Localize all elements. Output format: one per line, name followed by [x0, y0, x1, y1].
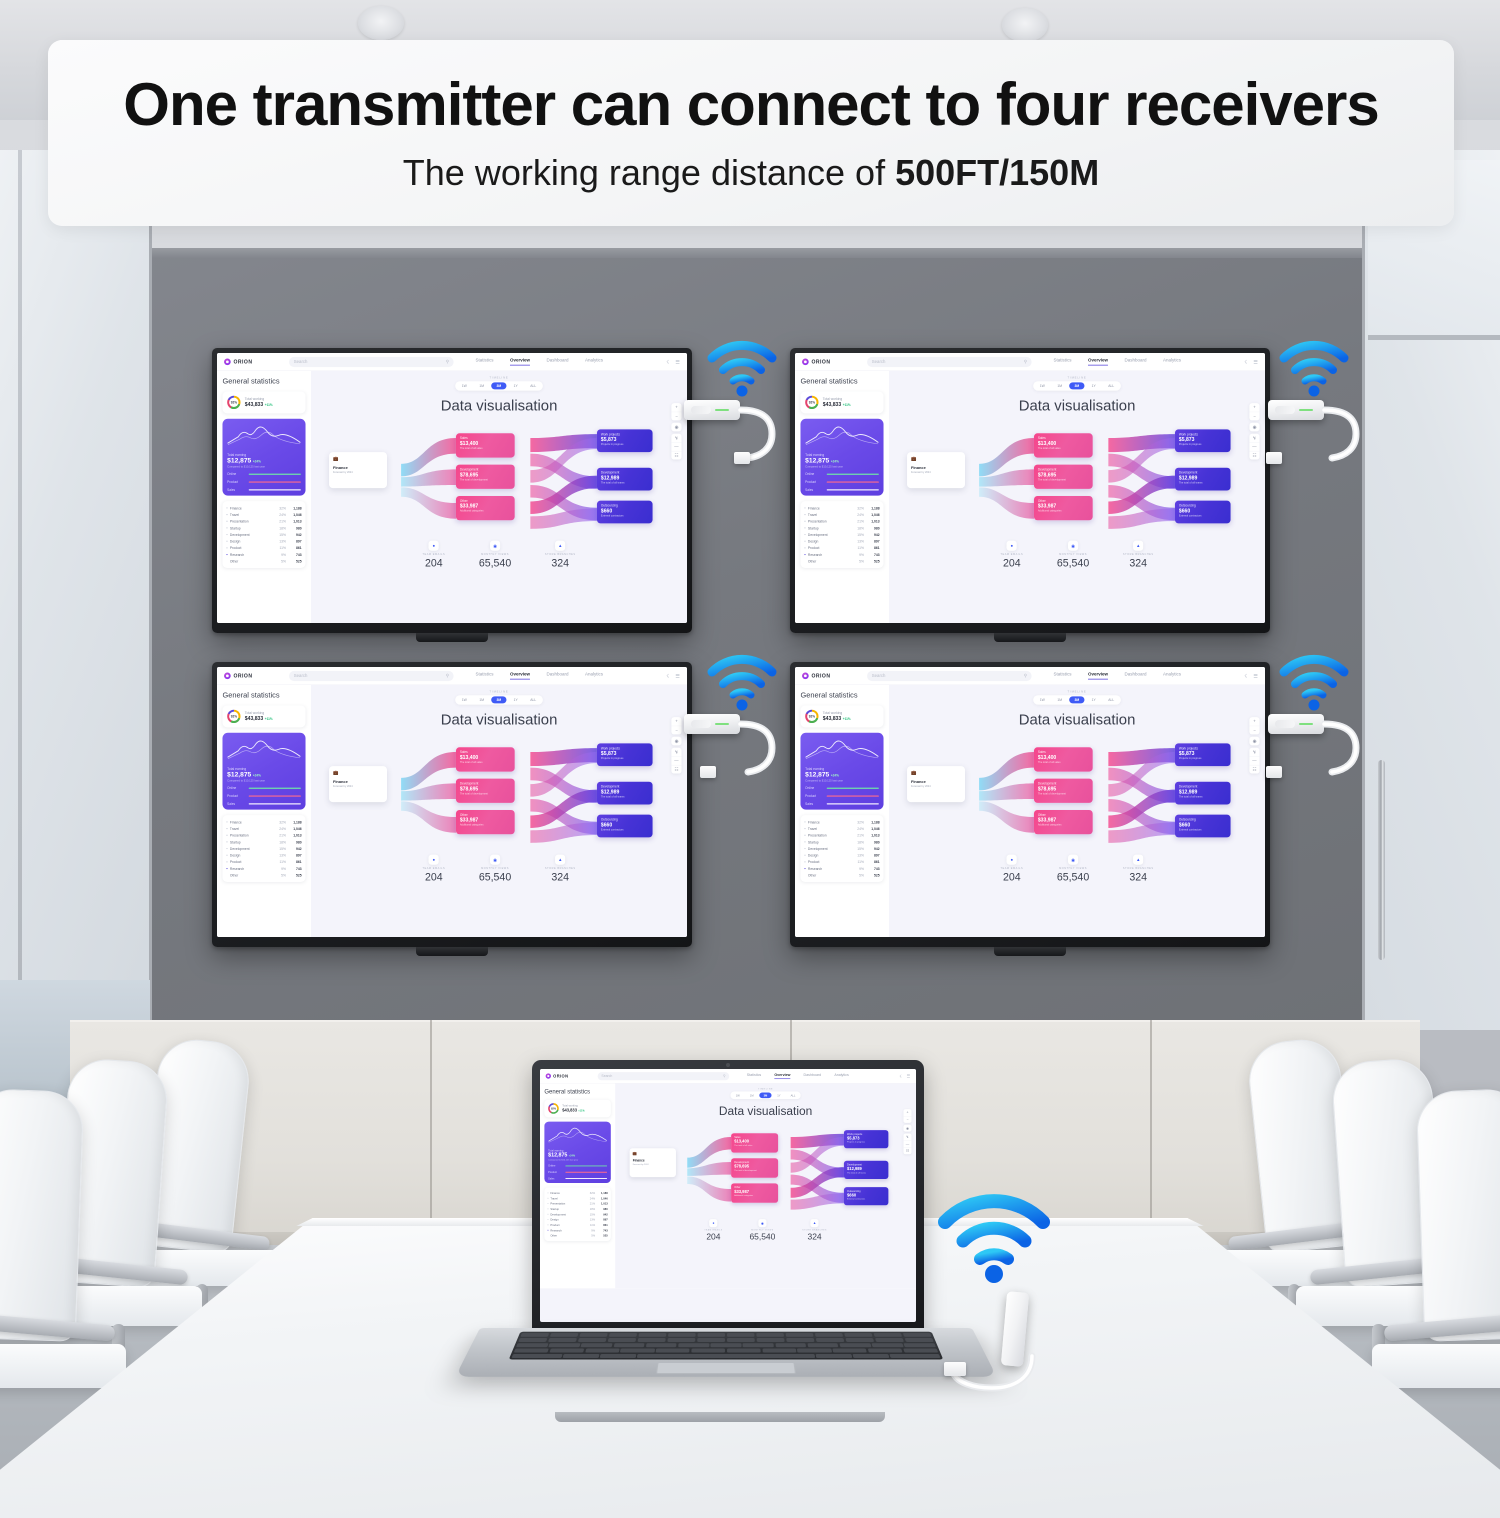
list-item-name: Product	[550, 1223, 584, 1226]
list-item-name: Research	[230, 553, 272, 557]
list-item-value: 942	[597, 1213, 608, 1216]
sankey-diagram: 💼 Finance Forecast by 2024 Sales $13,400…	[905, 418, 1250, 536]
nav-item-analytics[interactable]: Analytics	[1163, 358, 1181, 365]
plus-icon[interactable]: +	[1249, 717, 1259, 726]
topbar-icons: ☇ ☰	[899, 1074, 910, 1079]
timeline-option-3m[interactable]: 3M	[1069, 696, 1085, 703]
list-item-name: Other	[808, 873, 850, 877]
nav-item-statistics[interactable]: Statistics	[1054, 358, 1072, 365]
sankey-node-outsourcing[interactable]: Outsourcing $660 External contractors	[1175, 815, 1231, 838]
total-earning-value: $12,875	[805, 457, 829, 464]
tv-screen: ORION Search ⚲ Statistics Overview Dashb…	[795, 353, 1265, 623]
key-row	[511, 1354, 940, 1358]
total-earning-value: $12,875	[227, 457, 251, 464]
list-item-name: Other	[808, 559, 850, 563]
display-screen-2[interactable]: ORION Search ⚲ Statistics Overview Dashb…	[790, 348, 1270, 633]
nav-item-statistics[interactable]: Statistics	[476, 358, 494, 365]
list-item[interactable]: Product 11% 861	[226, 545, 301, 552]
list-item-name: Travel	[550, 1197, 584, 1200]
sankey-node-development[interactable]: Development $78,695 The total of develop…	[1034, 465, 1093, 489]
dashboard-body: General statistics 92% Total working $43…	[217, 685, 687, 937]
search-input[interactable]: Search ⚲	[289, 671, 454, 681]
progress-ring-icon: 92%	[227, 710, 240, 723]
sankey-node-work-projects[interactable]: Work projects $5,873 Projects in progres…	[597, 743, 653, 766]
node-sub: External contractors	[847, 1198, 885, 1200]
orion-logo-icon	[802, 358, 809, 365]
sankey-node-other[interactable]: Other $33,987 Additional categories	[731, 1183, 778, 1202]
topbar-icons: ☇ ☰	[666, 673, 680, 679]
sankey-node-work-projects[interactable]: Work projects $5,873 Projects in progres…	[1175, 743, 1231, 766]
target-icon[interactable]: ◉	[1249, 737, 1259, 746]
timeline-option-1m[interactable]: 1M	[745, 1092, 757, 1098]
list-item[interactable]: Other 5% 525	[804, 872, 879, 879]
list-item[interactable]: Finance 32% 1,188	[804, 819, 879, 826]
timeline-caption: TIMELINE	[889, 377, 1265, 380]
list-item[interactable]: Presentation 21% 1,013	[804, 832, 879, 839]
timeline-option-1y[interactable]: 1Y	[1086, 382, 1101, 389]
list-item[interactable]: Design 13% 897	[226, 538, 301, 545]
list-item-name: Finance	[550, 1191, 584, 1194]
node-sub: Projects in progress	[1179, 757, 1227, 760]
sankey-node-target-development[interactable]: Development $12,989 The total of all tea…	[1175, 468, 1231, 491]
tv-screen: ORION Search ⚲ Statistics Overview Dashb…	[217, 667, 687, 937]
nav-item-statistics[interactable]: Statistics	[747, 1073, 761, 1079]
globe-icon: ◉	[1068, 855, 1078, 865]
list-item[interactable]: Startup 18% 980	[804, 525, 879, 532]
list-item[interactable]: Presentation 21% 1,013	[226, 832, 301, 839]
plus-icon[interactable]: +	[903, 1109, 911, 1116]
nav-item-analytics[interactable]: Analytics	[834, 1073, 848, 1079]
total-earning-delta: +24%	[253, 460, 261, 464]
list-item-name: Startup	[230, 840, 272, 844]
search-input[interactable]: Search ⚲	[289, 357, 454, 367]
list-item-pct: 24%	[852, 827, 864, 831]
nav-item-analytics[interactable]: Analytics	[1163, 672, 1181, 679]
list-item[interactable]: Development 15% 942	[226, 845, 301, 852]
bullet-icon	[226, 527, 227, 528]
sankey-node-target-development[interactable]: Development $12,989 The total of all tea…	[597, 468, 653, 491]
bullet-icon	[226, 547, 227, 548]
bookmark-icon[interactable]: ☇	[899, 1074, 901, 1079]
brand-logo[interactable]: ORION	[224, 672, 283, 679]
nav-item-dashboard[interactable]: Dashboard	[546, 672, 568, 679]
display-screen-3[interactable]: ORION Search ⚲ Statistics Overview Dashb…	[212, 662, 692, 947]
node-sub: External contractors	[1179, 828, 1227, 831]
branch-icon[interactable]: ↯	[671, 748, 681, 757]
source-node-name: Finance	[633, 1159, 673, 1162]
layers-icon[interactable]: ☷	[903, 1147, 911, 1154]
node-value: $33,987	[1038, 817, 1089, 823]
brand-logo[interactable]: ORION	[802, 358, 861, 365]
bullet-icon	[804, 507, 805, 508]
total-working-text: Total working $43,833+11%	[823, 397, 851, 408]
sankey-node-outsourcing[interactable]: Outsourcing $660 External contractors	[1175, 501, 1231, 524]
timeline-option-1w[interactable]: 1W	[1034, 382, 1050, 389]
bookmark-icon[interactable]: ☇	[666, 673, 669, 679]
search-input[interactable]: Search ⚲	[867, 357, 1032, 367]
list-item[interactable]: Development 15% 942	[804, 845, 879, 852]
sankey-node-target-development[interactable]: Development $12,989 The total of all tea…	[597, 782, 653, 805]
total-earning-sub: Compared to $10,125 last year	[805, 779, 879, 782]
nav-item-dashboard[interactable]: Dashboard	[1124, 358, 1146, 365]
sankey-node-target-development[interactable]: Development $12,989 The total of all tea…	[1175, 782, 1231, 805]
total-earning-sub: Compared to $10,125 last year	[548, 1159, 607, 1161]
sankey-node-work-projects[interactable]: Work projects $5,873 Projects in progres…	[597, 429, 653, 452]
target-icon[interactable]: ◉	[903, 1125, 911, 1132]
list-item[interactable]: Product 11% 861	[804, 859, 879, 866]
nav-item-dashboard[interactable]: Dashboard	[546, 358, 568, 365]
timeline-option-all[interactable]: ALL	[1103, 696, 1120, 703]
sankey-node-other[interactable]: Other $33,987 Additional categories	[1034, 810, 1093, 834]
list-item-value: 897	[866, 539, 879, 543]
list-item-name: Design	[550, 1218, 584, 1221]
branch-icon[interactable]: ↯	[1249, 748, 1259, 757]
bookmark-icon[interactable]: ☇	[666, 359, 669, 365]
minus-icon[interactable]: −	[1249, 726, 1259, 735]
list-item[interactable]: Finance 32% 1,188	[226, 505, 301, 512]
stat-label: STORE BRANCHES	[802, 1229, 827, 1231]
stat-card: ● TEAM EMAILS 204	[422, 855, 445, 884]
top-navigation: Statistics Overview Dashboard Analytics	[476, 358, 603, 365]
target-icon[interactable]: ◉	[1249, 423, 1259, 432]
list-item[interactable]: Product 11% 861	[226, 859, 301, 866]
dashboard-main: TIMELINE 1W 1M 3M 1Y ALL Data visualisat…	[311, 685, 687, 937]
sankey-node-development[interactable]: Development $78,695 The total of develop…	[456, 465, 515, 489]
legend-item: Product	[805, 794, 879, 798]
wifi-signal-icon	[706, 336, 778, 398]
list-item-name: Development	[230, 533, 272, 537]
list-item[interactable]: Development 15% 942	[226, 531, 301, 538]
stat-card: ● TEAM EMAILS 204	[422, 541, 445, 570]
globe-icon: ◉	[490, 541, 500, 551]
sankey-node-sales[interactable]: Sales $13,400 The total of all sales	[456, 747, 515, 771]
list-item[interactable]: Design 13% 897	[804, 538, 879, 545]
layers-icon[interactable]: ☷	[1249, 765, 1259, 774]
usb-plug	[944, 1362, 966, 1376]
target-icon[interactable]: ◉	[671, 737, 681, 746]
list-item-name: Product	[230, 860, 272, 864]
sankey-diagram: 💼 Finance Forecast by 2024 Sales $13,400…	[327, 418, 672, 536]
node-sub: External contractors	[601, 828, 649, 831]
node-value: $5,873	[1179, 750, 1227, 756]
list-item[interactable]: Presentation 21% 1,013	[226, 518, 301, 525]
ring-value: 92%	[548, 1103, 559, 1114]
node-value: $78,695	[1038, 786, 1089, 792]
wifi-signal-icon	[706, 650, 778, 712]
timeline-option-1y[interactable]: 1Y	[508, 696, 523, 703]
sankey-diagram: 💼 Finance Forecast by 2024 Sales $13,400…	[905, 732, 1250, 850]
nav-item-dashboard[interactable]: Dashboard	[804, 1073, 822, 1079]
list-item[interactable]: Design 13% 897	[226, 852, 301, 859]
node-sub: Additional categories	[460, 824, 511, 827]
branch-icon[interactable]: ↯	[1249, 434, 1259, 443]
list-item[interactable]: Other 5% 525	[548, 1233, 608, 1238]
nav-item-overview[interactable]: Overview	[510, 672, 530, 679]
nav-item-statistics[interactable]: Statistics	[476, 672, 494, 679]
mountain-chart-icon	[548, 1125, 607, 1143]
laptop-trackpad[interactable]	[656, 1362, 796, 1374]
door-handle[interactable]	[1378, 760, 1385, 960]
minus-icon[interactable]: −	[671, 412, 681, 421]
sankey-source-node[interactable]: 💼 Finance Forecast by 2024	[329, 452, 387, 488]
bookmark-icon[interactable]: ☇	[1244, 673, 1247, 679]
chart-title: Data visualisation	[889, 398, 1265, 415]
timeline-option-1m[interactable]: 1M	[474, 382, 490, 389]
list-item[interactable]: Startup 18% 980	[804, 839, 879, 846]
menu-icon[interactable]: ☰	[675, 673, 680, 679]
bookmark-icon[interactable]: ☇	[1244, 359, 1247, 365]
summary-stats: ● TEAM EMAILS 204 ◉ MONTHLY VIEWS 65,540…	[615, 1219, 916, 1242]
search-input[interactable]: Search ⚲	[867, 671, 1032, 681]
node-value: $12,989	[1179, 475, 1227, 481]
canvas-toolbar: + − ◉ ↯ — ☷	[1249, 717, 1259, 773]
timeline-option-all[interactable]: ALL	[525, 696, 542, 703]
tv-chin	[416, 633, 488, 642]
minus-icon[interactable]: −	[1249, 412, 1259, 421]
timeline-option-1m[interactable]: 1M	[1052, 696, 1068, 703]
search-icon: ⚲	[1024, 673, 1027, 678]
timeline-option-1w[interactable]: 1W	[1034, 696, 1050, 703]
list-item-name: Travel	[230, 513, 272, 517]
nav-item-overview[interactable]: Overview	[774, 1073, 790, 1079]
display-screen-1[interactable]: ORION Search ⚲ Statistics Overview Dashb…	[212, 348, 692, 633]
nav-item-statistics[interactable]: Statistics	[1054, 672, 1072, 679]
legend-bar	[249, 795, 301, 796]
timeline-pills: 1W 1M 3M 1Y ALL	[731, 1092, 801, 1100]
sankey-node-sales[interactable]: Sales $13,400 The total of all sales	[731, 1133, 778, 1152]
sankey-node-work-projects[interactable]: Work projects $5,873 Projects in progres…	[844, 1130, 888, 1148]
list-item[interactable]: Other 5% 525	[226, 872, 301, 879]
timeline-option-3m[interactable]: 3M	[759, 1092, 771, 1098]
list-item[interactable]: Other 5% 525	[226, 558, 301, 565]
list-item-pct: 11%	[586, 1223, 595, 1226]
nav-item-overview[interactable]: Overview	[1088, 672, 1108, 679]
list-item-value: 1,188	[866, 820, 879, 824]
plus-icon[interactable]: +	[671, 403, 681, 412]
list-item-name: Design	[230, 539, 272, 543]
total-working-delta: +11%	[265, 717, 273, 721]
list-item-pct: 21%	[852, 833, 864, 837]
glass-partition-left	[0, 150, 152, 1030]
timeline-option-1w[interactable]: 1W	[456, 382, 472, 389]
list-item-value: 1,188	[866, 506, 879, 510]
timeline-option-1y[interactable]: 1Y	[1086, 696, 1101, 703]
brand-logo[interactable]: ORION	[224, 358, 283, 365]
timeline-option-3m[interactable]: 3M	[1069, 382, 1085, 389]
timeline-option-1m[interactable]: 1M	[474, 696, 490, 703]
stat-label: MONTHLY VIEWS	[1057, 553, 1089, 556]
list-item-value: 743	[597, 1229, 608, 1232]
menu-icon[interactable]: ☰	[1253, 359, 1258, 365]
banner-title: One transmitter can connect to four rece…	[123, 73, 1378, 136]
source-node-name: Finance	[333, 780, 383, 784]
sankey-source-node[interactable]: 💼 Finance Forecast by 2024	[329, 766, 387, 802]
sankey-node-outsourcing[interactable]: Outsourcing $660 External contractors	[844, 1187, 888, 1205]
node-value: $33,987	[1038, 503, 1089, 509]
layers-icon[interactable]: ☷	[671, 451, 681, 460]
page-title: General statistics	[222, 377, 305, 386]
stat-card: ● TEAM EMAILS 204	[704, 1219, 722, 1242]
laptop[interactable]: ORION Search ⚲ Statistics Overview Dashb…	[470, 1060, 970, 1440]
timeline-option-1y[interactable]: 1Y	[508, 382, 523, 389]
list-item-pct: 11%	[852, 546, 864, 550]
sankey-node-target-development[interactable]: Development $12,989 The total of all tea…	[844, 1161, 888, 1179]
sankey-node-other[interactable]: Other $33,987 Additional categories	[456, 810, 515, 834]
total-working-card: 92% Total working $43,833+11%	[544, 1100, 610, 1118]
node-title: Work projects	[601, 747, 649, 751]
sankey-source-node[interactable]: 💼 Finance Forecast by 2024	[907, 766, 965, 802]
dash-icon[interactable]: —	[671, 756, 681, 765]
topbar-icons: ☇ ☰	[666, 359, 680, 365]
bullet-icon	[226, 828, 227, 829]
nav-item-overview[interactable]: Overview	[1088, 358, 1108, 365]
total-earning-card: Total earning $12,875+24% Compared to $1…	[800, 419, 883, 496]
branch-icon[interactable]: ↯	[903, 1134, 911, 1141]
layers-icon[interactable]: ☷	[671, 765, 681, 774]
total-working-text: Total working $43,833+11%	[245, 397, 273, 408]
nav-item-analytics[interactable]: Analytics	[585, 358, 603, 365]
legend-label: Sales	[227, 802, 246, 806]
brand-name: ORION	[233, 673, 252, 679]
dash-icon[interactable]: —	[1249, 756, 1259, 765]
node-sub: Additional categories	[460, 510, 511, 513]
list-item-value: 897	[288, 853, 301, 857]
timeline-option-1m[interactable]: 1M	[1052, 382, 1068, 389]
zoom-controls: + −	[671, 403, 681, 420]
sankey-node-development[interactable]: Development $78,695 The total of develop…	[1034, 779, 1093, 803]
node-title: Development	[601, 785, 649, 789]
laptop-keyboard[interactable]	[509, 1332, 944, 1360]
node-title: Development	[1038, 782, 1089, 786]
page-title: General statistics	[222, 691, 305, 700]
brand-logo[interactable]: ORION	[802, 672, 861, 679]
sankey-source-node[interactable]: 💼 Finance Forecast by 2024	[630, 1148, 676, 1177]
sankey-node-development[interactable]: Development $78,695 The total of develop…	[731, 1158, 778, 1177]
menu-icon[interactable]: ☰	[907, 1074, 911, 1079]
stat-value: 65,540	[1057, 557, 1089, 569]
dashboard-topbar: ORION Search ⚲ Statistics Overview Dashb…	[795, 667, 1265, 685]
search-placeholder: Search	[294, 673, 308, 678]
dash-icon[interactable]: —	[671, 442, 681, 451]
timeline-caption: TIMELINE	[615, 1088, 916, 1090]
node-title: Work projects	[1179, 433, 1227, 437]
list-item[interactable]: Presentation 21% 1,013	[804, 518, 879, 525]
timeline-option-3m[interactable]: 3M	[491, 696, 507, 703]
list-item-pct: 15%	[852, 533, 864, 537]
bullet-icon	[226, 514, 227, 515]
sankey-source-node[interactable]: 💼 Finance Forecast by 2024	[907, 452, 965, 488]
legend-item: Sales	[548, 1177, 607, 1180]
list-item[interactable]: Other 5% 525	[804, 558, 879, 565]
branch-icon[interactable]: ↯	[671, 434, 681, 443]
briefcase-icon: 💼	[633, 1151, 673, 1155]
list-item-pct: 5%	[274, 873, 286, 877]
list-item-value: 1,013	[866, 519, 879, 523]
list-item-value: 942	[866, 533, 879, 537]
timeline-option-all[interactable]: ALL	[1103, 382, 1120, 389]
total-earning-row: $12,875+24%	[805, 457, 879, 465]
timeline-option-3m[interactable]: 3M	[491, 382, 507, 389]
timeline-filter: TIMELINE 1W 1M 3M 1Y ALL	[311, 691, 687, 705]
target-icon[interactable]: ◉	[671, 423, 681, 432]
timeline-option-all[interactable]: ALL	[786, 1092, 800, 1098]
dashboard-sidebar: General statistics 92% Total working $43…	[217, 685, 311, 937]
list-item[interactable]: Startup 18% 980	[226, 525, 301, 532]
nav-item-overview[interactable]: Overview	[510, 358, 530, 365]
list-item[interactable]: Product 11% 861	[804, 545, 879, 552]
stat-card: ▲ STORE BRANCHES 324	[802, 1219, 827, 1242]
stat-label: STORE BRANCHES	[1123, 867, 1154, 870]
tv-bezel: ORION Search ⚲ Statistics Overview Dashb…	[790, 348, 1270, 633]
list-item-pct: 5%	[274, 559, 286, 563]
list-item[interactable]: Finance 32% 1,188	[804, 505, 879, 512]
banner-subtitle-prefix: The working range distance of	[403, 152, 895, 193]
sankey-node-other[interactable]: Other $33,987 Additional categories	[456, 496, 515, 520]
search-input[interactable]: Search ⚲	[598, 1072, 730, 1080]
stat-value: 324	[545, 871, 576, 883]
sankey-node-sales[interactable]: Sales $13,400 The total of all sales	[1034, 433, 1093, 457]
sankey-node-other[interactable]: Other $33,987 Additional categories	[1034, 496, 1093, 520]
stat-value: 324	[545, 557, 576, 569]
list-item-pct: 32%	[274, 820, 286, 824]
list-item[interactable]: Startup 18% 980	[226, 839, 301, 846]
nav-item-dashboard[interactable]: Dashboard	[1124, 672, 1146, 679]
dash-icon[interactable]: —	[1249, 442, 1259, 451]
sankey-node-development[interactable]: Development $78,695 The total of develop…	[456, 779, 515, 803]
list-item[interactable]: Development 15% 942	[804, 531, 879, 538]
node-title: Sales	[1038, 436, 1089, 440]
sankey-node-outsourcing[interactable]: Outsourcing $660 External contractors	[597, 501, 653, 524]
display-screen-4[interactable]: ORION Search ⚲ Statistics Overview Dashb…	[790, 662, 1270, 947]
stat-label: MONTHLY VIEWS	[479, 867, 511, 870]
stat-value: 324	[802, 1232, 827, 1242]
timeline-option-1w[interactable]: 1W	[731, 1092, 744, 1098]
timeline-option-1w[interactable]: 1W	[456, 696, 472, 703]
plus-icon[interactable]: +	[1249, 403, 1259, 412]
menu-icon[interactable]: ☰	[675, 359, 680, 365]
legend-item: Product	[548, 1171, 607, 1174]
node-value: $12,989	[1179, 789, 1227, 795]
conference-room-scene: ORION Search ⚲ Statistics Overview Dashb…	[0, 0, 1500, 1500]
source-node-name: Finance	[333, 466, 383, 470]
list-item-pct: 11%	[852, 860, 864, 864]
list-item[interactable]: Design 13% 897	[804, 852, 879, 859]
timeline-option-all[interactable]: ALL	[525, 382, 542, 389]
total-earning-card: Total earning $12,875+24% Compared to $1…	[544, 1122, 610, 1183]
total-working-row: $43,833+11%	[823, 715, 851, 722]
minus-icon[interactable]: −	[671, 726, 681, 735]
minus-icon[interactable]: −	[903, 1116, 911, 1123]
plus-icon[interactable]: +	[671, 717, 681, 726]
sankey-node-sales[interactable]: Sales $13,400 The total of all sales	[1034, 747, 1093, 771]
banner-subtitle-range: 500FT/150M	[895, 152, 1099, 193]
chart-title: Data visualisation	[889, 712, 1265, 729]
timeline-option-1y[interactable]: 1Y	[773, 1092, 785, 1098]
nav-item-analytics[interactable]: Analytics	[585, 672, 603, 679]
dash-icon[interactable]: —	[903, 1140, 911, 1147]
stat-card: ● TEAM EMAILS 204	[1000, 541, 1023, 570]
sankey-node-work-projects[interactable]: Work projects $5,873 Projects in progres…	[1175, 429, 1231, 452]
orion-logo-icon	[224, 358, 231, 365]
brand-logo[interactable]: ORION	[546, 1073, 593, 1078]
layers-icon[interactable]: ☷	[1249, 451, 1259, 460]
list-item-value: 525	[866, 559, 879, 563]
sankey-node-sales[interactable]: Sales $13,400 The total of all sales	[456, 433, 515, 457]
canvas-toolbar: + − ◉ ↯ — ☷	[903, 1109, 911, 1154]
menu-icon[interactable]: ☰	[1253, 673, 1258, 679]
sankey-node-outsourcing[interactable]: Outsourcing $660 External contractors	[597, 815, 653, 838]
list-item[interactable]: Finance 32% 1,188	[226, 819, 301, 826]
